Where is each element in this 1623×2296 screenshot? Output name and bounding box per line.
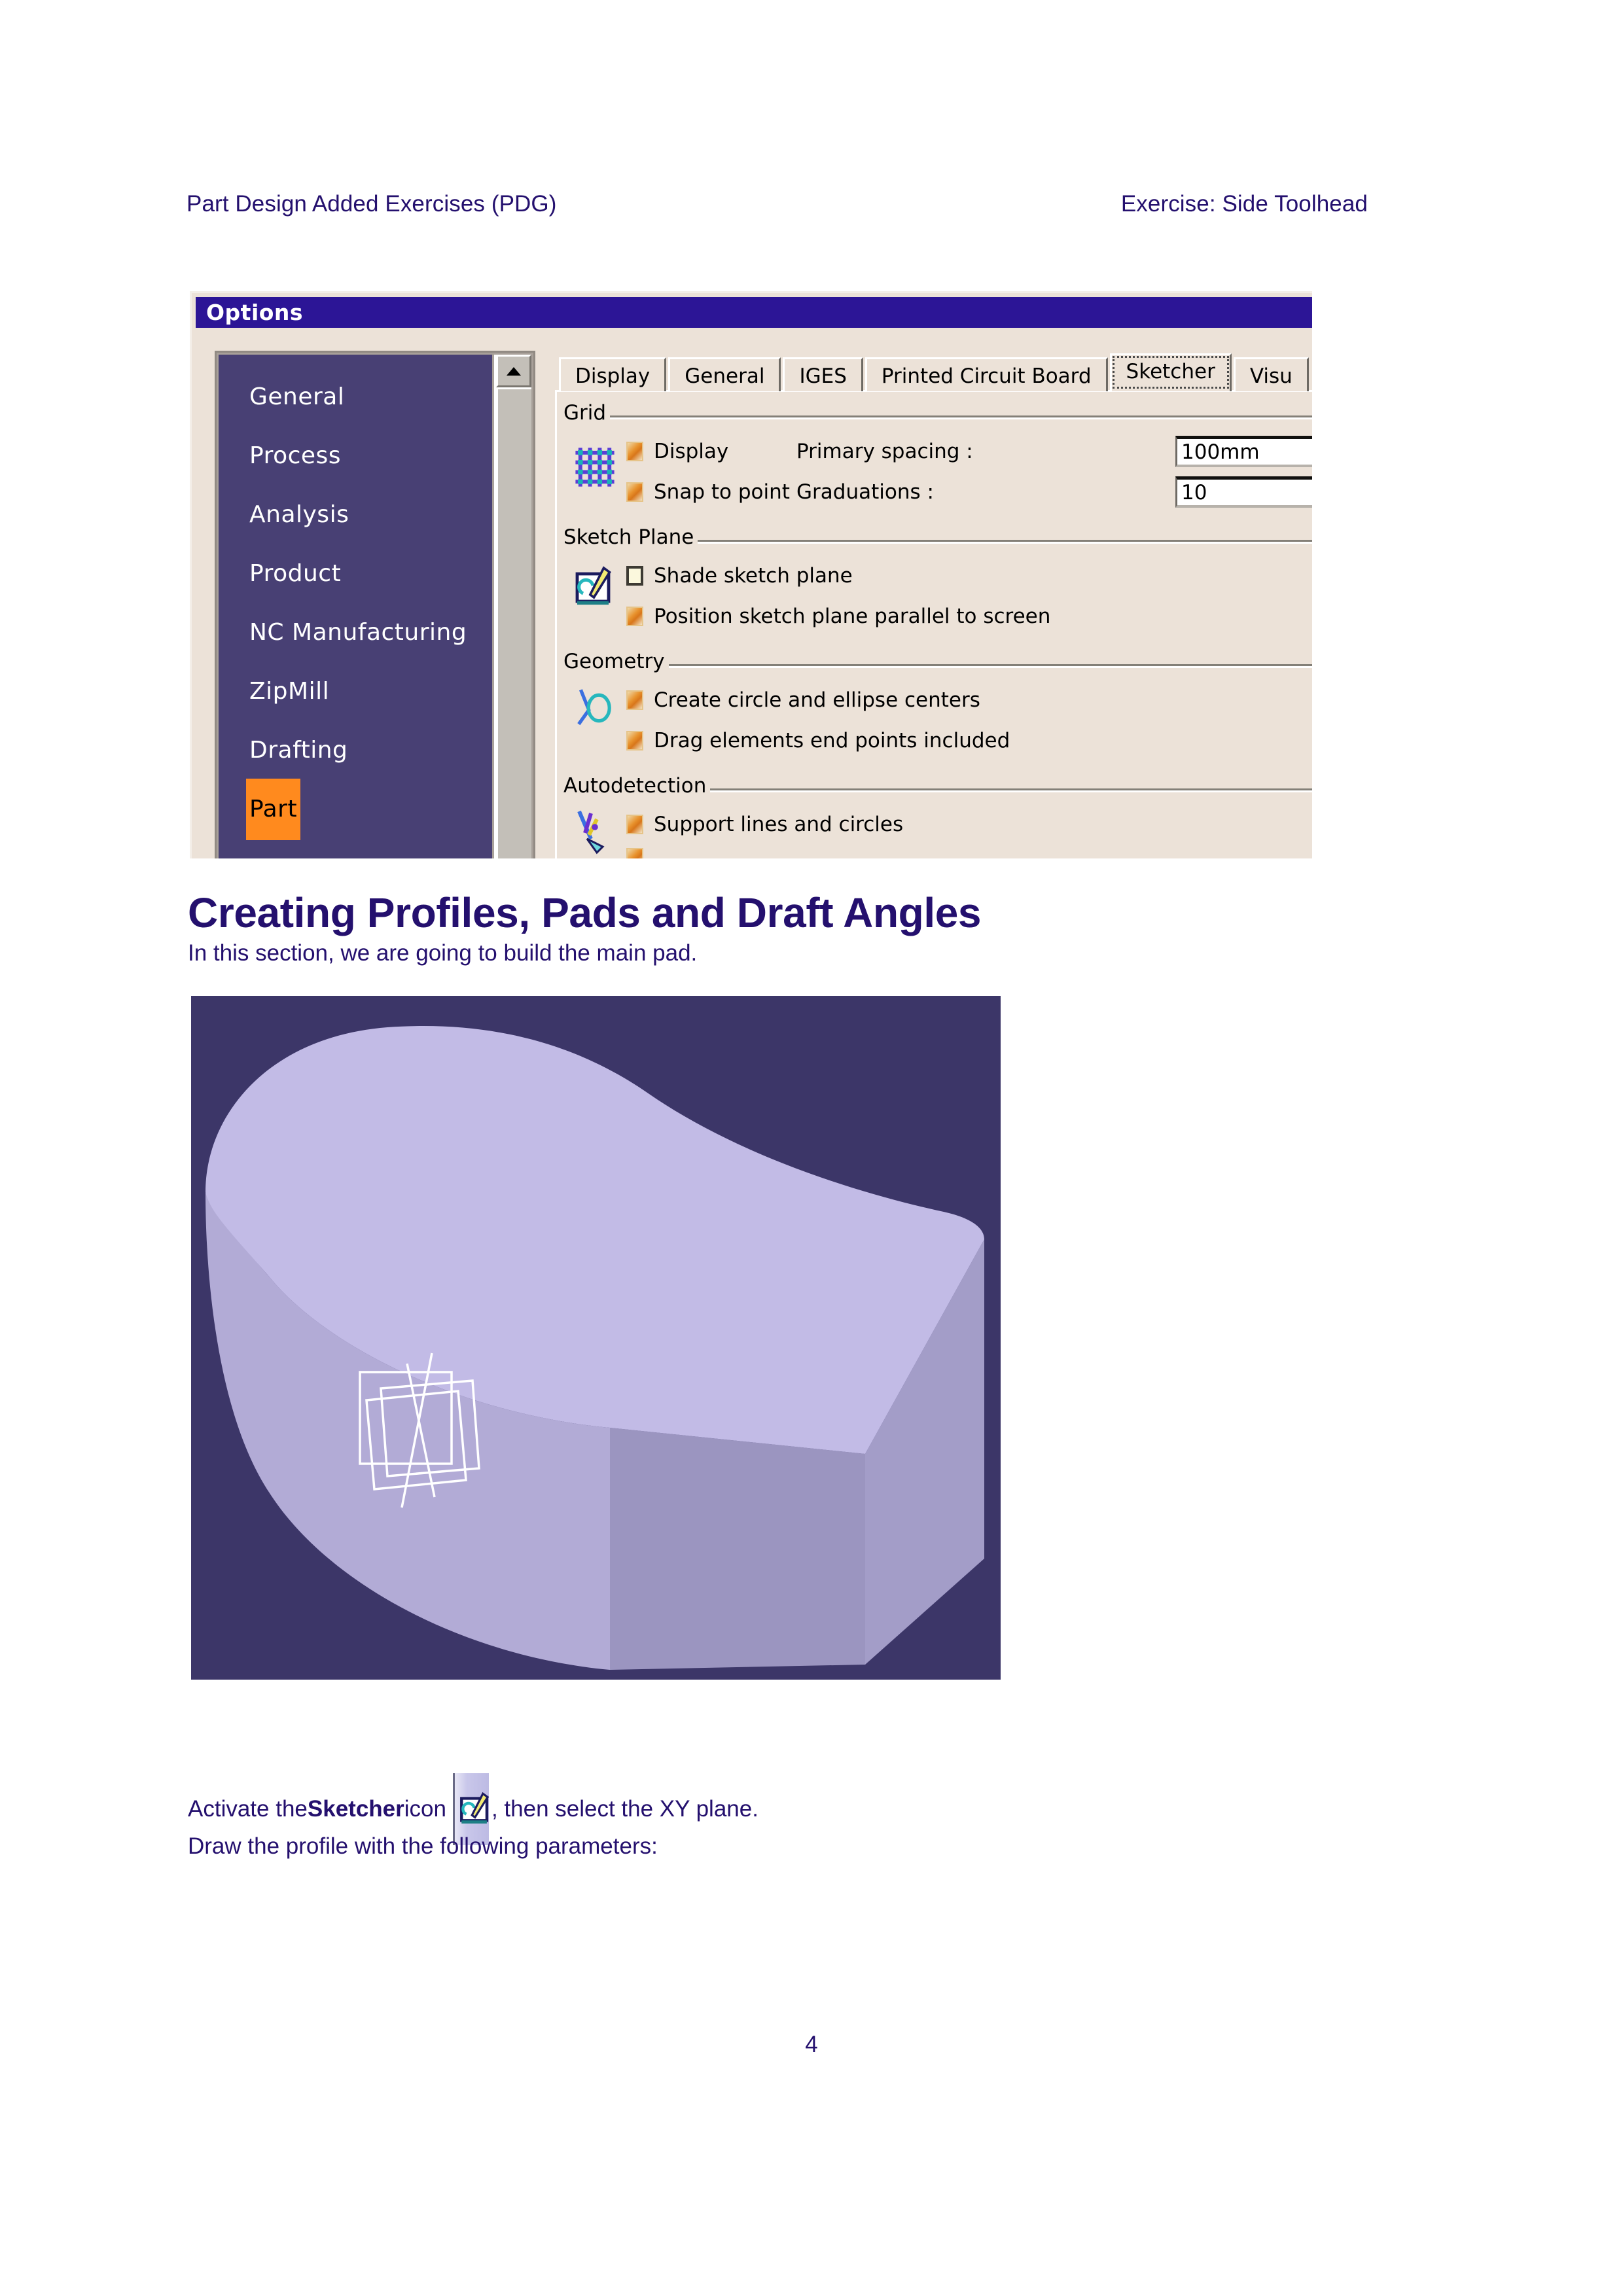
create-centers-row: Create circle and ellipse centers bbox=[626, 680, 1312, 720]
geometry-icon-svg bbox=[571, 684, 619, 732]
tree-item-label: Part bbox=[246, 779, 300, 840]
tree-item-label: Process bbox=[246, 425, 344, 487]
grid-snap-row: Snap to point Graduations : 10 bbox=[626, 472, 1312, 512]
label-drag-elements-end-points: Drag elements end points included bbox=[654, 729, 1010, 752]
tree-item-label: ZipMill bbox=[246, 661, 332, 722]
options-dialog-titlebar: Options bbox=[196, 297, 1312, 328]
options-dialog-screenshot: Options General Process Analysis Product bbox=[190, 291, 1312, 858]
grid-icon-svg bbox=[571, 443, 619, 491]
tree-item-label: NC Manufacturing bbox=[246, 602, 470, 663]
tab-sketcher[interactable]: Sketcher bbox=[1110, 353, 1232, 391]
scroll-up-arrow-icon bbox=[507, 367, 521, 376]
sketcher-instruction-prefix: Activate the bbox=[188, 1796, 308, 1822]
tree-item-label: Analysis bbox=[246, 484, 352, 546]
tree-item-product[interactable]: Product bbox=[219, 543, 492, 602]
sketcher-instruction-mid: icon bbox=[404, 1796, 446, 1822]
tab-display[interactable]: Display bbox=[559, 357, 666, 391]
input-primary-spacing[interactable]: 100mm bbox=[1175, 436, 1312, 467]
group-autodetection: Autodetection bbox=[563, 774, 1312, 858]
grid-icon bbox=[563, 431, 626, 491]
tree-scrollbar[interactable] bbox=[494, 355, 531, 858]
drag-elements-row: Drag elements end points included bbox=[626, 720, 1312, 761]
geometry-icon bbox=[563, 680, 626, 732]
checkbox-snap-to-point[interactable] bbox=[626, 482, 643, 502]
label-shade-sketch-plane: Shade sketch plane bbox=[654, 564, 853, 588]
checkbox-grid-display[interactable] bbox=[626, 442, 643, 461]
input-graduations[interactable]: 10 bbox=[1175, 476, 1312, 508]
label-create-circle-ellipse-centers: Create circle and ellipse centers bbox=[654, 688, 980, 712]
checkbox-position-sketch-plane-parallel[interactable] bbox=[626, 607, 643, 626]
options-tab-strip: Display General IGES Printed Circuit Boa… bbox=[555, 351, 1312, 391]
tab-iges[interactable]: IGES bbox=[783, 357, 863, 391]
group-sketch-plane-body: Shade sketch plane Position sketch plane… bbox=[563, 549, 1312, 639]
pad-right-face bbox=[610, 1428, 865, 1670]
header-right-text: Exercise: Side Toolhead bbox=[1121, 191, 1368, 217]
group-geometry-body: Create circle and ellipse centers Drag e… bbox=[563, 673, 1312, 764]
main-pad-3d-figure bbox=[191, 996, 1001, 1680]
sketcher-instruction-suffix: , then select the XY plane. bbox=[491, 1796, 758, 1822]
tree-item-label: Drafting bbox=[246, 720, 351, 781]
label-position-sketch-plane-parallel: Position sketch plane parallel to screen bbox=[654, 605, 1050, 628]
checkbox-support-lines-and-circles[interactable] bbox=[626, 815, 643, 834]
group-geometry-title: Geometry bbox=[563, 650, 669, 673]
checkbox-clipped-partial[interactable] bbox=[626, 848, 643, 858]
tab-general[interactable]: General bbox=[668, 357, 781, 391]
header-left-text: Part Design Added Exercises (PDG) bbox=[187, 191, 556, 217]
section-heading: Creating Profiles, Pads and Draft Angles bbox=[188, 889, 981, 937]
group-grid-rule bbox=[563, 415, 1312, 419]
options-dialog-frame: Options General Process Analysis Product bbox=[190, 291, 1312, 858]
group-sketch-plane: Sketch Plane bbox=[563, 525, 1312, 639]
tree-item-label: General bbox=[246, 366, 348, 428]
document-page: Part Design Added Exercises (PDG) Exerci… bbox=[0, 0, 1623, 2296]
label-primary-spacing: Primary spacing : bbox=[796, 440, 973, 463]
checkbox-drag-elements-end-points[interactable] bbox=[626, 731, 643, 751]
grid-display-row: Display Primary spacing : 100mm bbox=[626, 431, 1312, 472]
group-geometry-rule bbox=[563, 664, 1312, 668]
page-number: 4 bbox=[0, 2032, 1623, 2058]
checkbox-shade-sketch-plane[interactable] bbox=[626, 566, 643, 586]
draw-profile-paragraph: Draw the profile with the following para… bbox=[188, 1833, 658, 1860]
support-lines-row: Support lines and circles bbox=[626, 804, 1312, 845]
tab-visu[interactable]: Visu bbox=[1234, 357, 1309, 391]
options-dialog-title: Options bbox=[196, 300, 303, 325]
group-autodetection-title: Autodetection bbox=[563, 774, 710, 798]
tree-item-general[interactable]: General bbox=[219, 366, 492, 425]
document-running-header: Part Design Added Exercises (PDG) Exerci… bbox=[187, 191, 1436, 217]
sketch-plane-icon-svg bbox=[571, 562, 618, 609]
options-tab-pane: Display General IGES Printed Circuit Boa… bbox=[555, 351, 1312, 858]
autodetection-icon-svg bbox=[571, 805, 619, 857]
tree-item-drafting[interactable]: Drafting bbox=[219, 720, 492, 779]
scrollbar-track[interactable] bbox=[496, 387, 531, 858]
label-grid-display: Display bbox=[654, 440, 778, 463]
sketch-plane-icon bbox=[563, 556, 626, 609]
tree-item-label: Product bbox=[246, 543, 344, 605]
position-sketch-plane-row: Position sketch plane parallel to screen bbox=[626, 596, 1312, 637]
label-snap-to-point: Snap to point bbox=[654, 480, 778, 504]
group-autodetection-body: Support lines and circles bbox=[563, 798, 1312, 858]
sketcher-instruction-bold: Sketcher bbox=[308, 1796, 404, 1822]
group-geometry: Geometry bbox=[563, 650, 1312, 764]
group-grid: Grid bbox=[563, 401, 1312, 515]
group-grid-body: Display Primary spacing : 100mm Snap to … bbox=[563, 425, 1312, 515]
clipped-option-row bbox=[626, 845, 1312, 858]
sketcher-tab-content: Grid bbox=[555, 390, 1312, 858]
group-sketch-plane-title: Sketch Plane bbox=[563, 525, 698, 549]
autodetection-icon bbox=[563, 804, 626, 857]
label-support-lines-and-circles: Support lines and circles bbox=[654, 813, 903, 836]
tree-item-process[interactable]: Process bbox=[219, 425, 492, 484]
tree-item-analysis[interactable]: Analysis bbox=[219, 484, 492, 543]
label-graduations: Graduations : bbox=[796, 480, 934, 504]
section-subtitle: In this section, we are going to build t… bbox=[188, 940, 697, 966]
tree-item-nc-manufacturing[interactable]: NC Manufacturing bbox=[219, 602, 492, 661]
tab-printed-circuit-board[interactable]: Printed Circuit Board bbox=[865, 357, 1108, 391]
sketcher-icon bbox=[457, 1789, 495, 1827]
scroll-up-button[interactable] bbox=[496, 355, 531, 387]
sketcher-icon-svg bbox=[457, 1789, 495, 1827]
main-pad-3d-svg bbox=[191, 996, 1001, 1680]
tree-item-zipmill[interactable]: ZipMill bbox=[219, 661, 492, 720]
checkbox-create-circle-ellipse-centers[interactable] bbox=[626, 690, 643, 710]
options-category-list[interactable]: General Process Analysis Product NC Manu… bbox=[219, 355, 492, 858]
tree-item-part[interactable]: Part bbox=[219, 779, 492, 838]
group-grid-title: Grid bbox=[563, 401, 610, 425]
options-category-tree: General Process Analysis Product NC Manu… bbox=[215, 351, 535, 858]
shade-sketch-plane-row: Shade sketch plane bbox=[626, 556, 1312, 596]
